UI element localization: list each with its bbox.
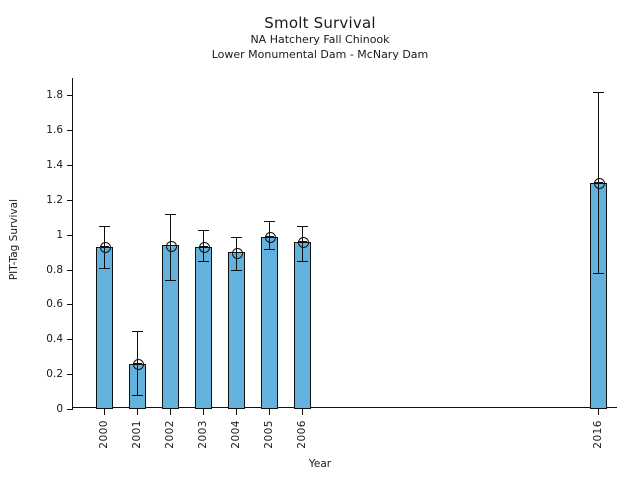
title-block: Smolt Survival NA Hatchery Fall Chinook … [0,14,640,62]
y-axis-title-text: PIT-Tag Survival [8,199,20,280]
error-bar-cap-upper [593,92,604,93]
error-bar-cap-lower [198,261,209,262]
error-bar-cap-lower [297,261,308,262]
error-bar-cap-upper [198,230,209,231]
y-tick-mark [67,270,73,271]
data-point-marker [265,232,276,243]
y-tick-label: 0.8 [46,264,63,276]
plot-area: 00.20.40.60.811.21.41.61.8 2000200120022… [72,78,617,408]
error-bar-cap-lower [231,270,242,271]
x-tick-label: 2006 [296,420,308,449]
y-tick-label: 0.4 [46,333,63,345]
chart-subtitle-line-1: NA Hatchery Fall Chinook [0,32,640,47]
y-tick-label: 0.2 [46,368,63,380]
data-point-marker [166,241,177,252]
error-bar-cap-lower [264,249,275,250]
y-tick-mark [67,95,73,96]
data-point-marker [133,359,144,370]
bar [294,242,311,409]
bar [228,252,245,409]
y-tick-mark [67,165,73,166]
y-tick-mark [67,374,73,375]
x-tick-label: 2002 [164,420,176,449]
error-bar-cap-lower [132,395,143,396]
x-tick-mark [203,409,204,415]
y-tick-label: 1 [56,229,63,241]
y-tick-mark [67,130,73,131]
y-tick-mark [67,200,73,201]
error-bar-cap-lower [165,280,176,281]
x-tick-label: 2000 [98,420,110,449]
y-tick-label: 1.2 [46,194,63,206]
error-bar-cap-upper [264,221,275,222]
data-point-marker [232,248,243,259]
bar [96,247,113,409]
x-tick-label: 2001 [131,420,143,449]
y-tick-mark [67,409,73,410]
data-point-marker [298,237,309,248]
chart-title: Smolt Survival [0,14,640,32]
x-tick-label: 2016 [592,420,604,449]
y-tick-label: 0.6 [46,298,63,310]
error-bar-cap-upper [297,226,308,227]
x-axis-title: Year [0,458,640,470]
x-tick-label: 2005 [263,420,275,449]
data-point-marker [594,178,605,189]
x-axis-spine [72,407,617,408]
error-bar-cap-upper [231,237,242,238]
x-tick-label: 2004 [230,420,242,449]
y-tick-mark [67,304,73,305]
y-axis-spine [72,78,73,409]
bar [195,247,212,409]
y-tick-label: 1.6 [46,124,63,136]
data-point-marker [100,242,111,253]
x-tick-mark [236,409,237,415]
chart-figure: Smolt Survival NA Hatchery Fall Chinook … [0,0,640,480]
y-tick-label: 1.4 [46,159,63,171]
data-point-marker [199,242,210,253]
error-bar-cap-lower [593,273,604,274]
x-tick-mark [170,409,171,415]
x-tick-mark [137,409,138,415]
x-tick-mark [598,409,599,415]
x-tick-mark [302,409,303,415]
error-bar-cap-upper [99,226,110,227]
x-tick-label: 2003 [197,420,209,449]
y-tick-label: 1.8 [46,89,63,101]
y-tick-label: 0 [56,403,63,415]
x-tick-mark [269,409,270,415]
error-bar-cap-lower [99,268,110,269]
bar [261,237,278,409]
y-axis-title: PIT-Tag Survival [8,0,20,480]
x-tick-mark [104,409,105,415]
y-tick-mark [67,339,73,340]
y-tick-mark [67,235,73,236]
error-bar-cap-upper [132,331,143,332]
error-bar-cap-upper [165,214,176,215]
chart-subtitle-line-2: Lower Monumental Dam - McNary Dam [0,47,640,62]
